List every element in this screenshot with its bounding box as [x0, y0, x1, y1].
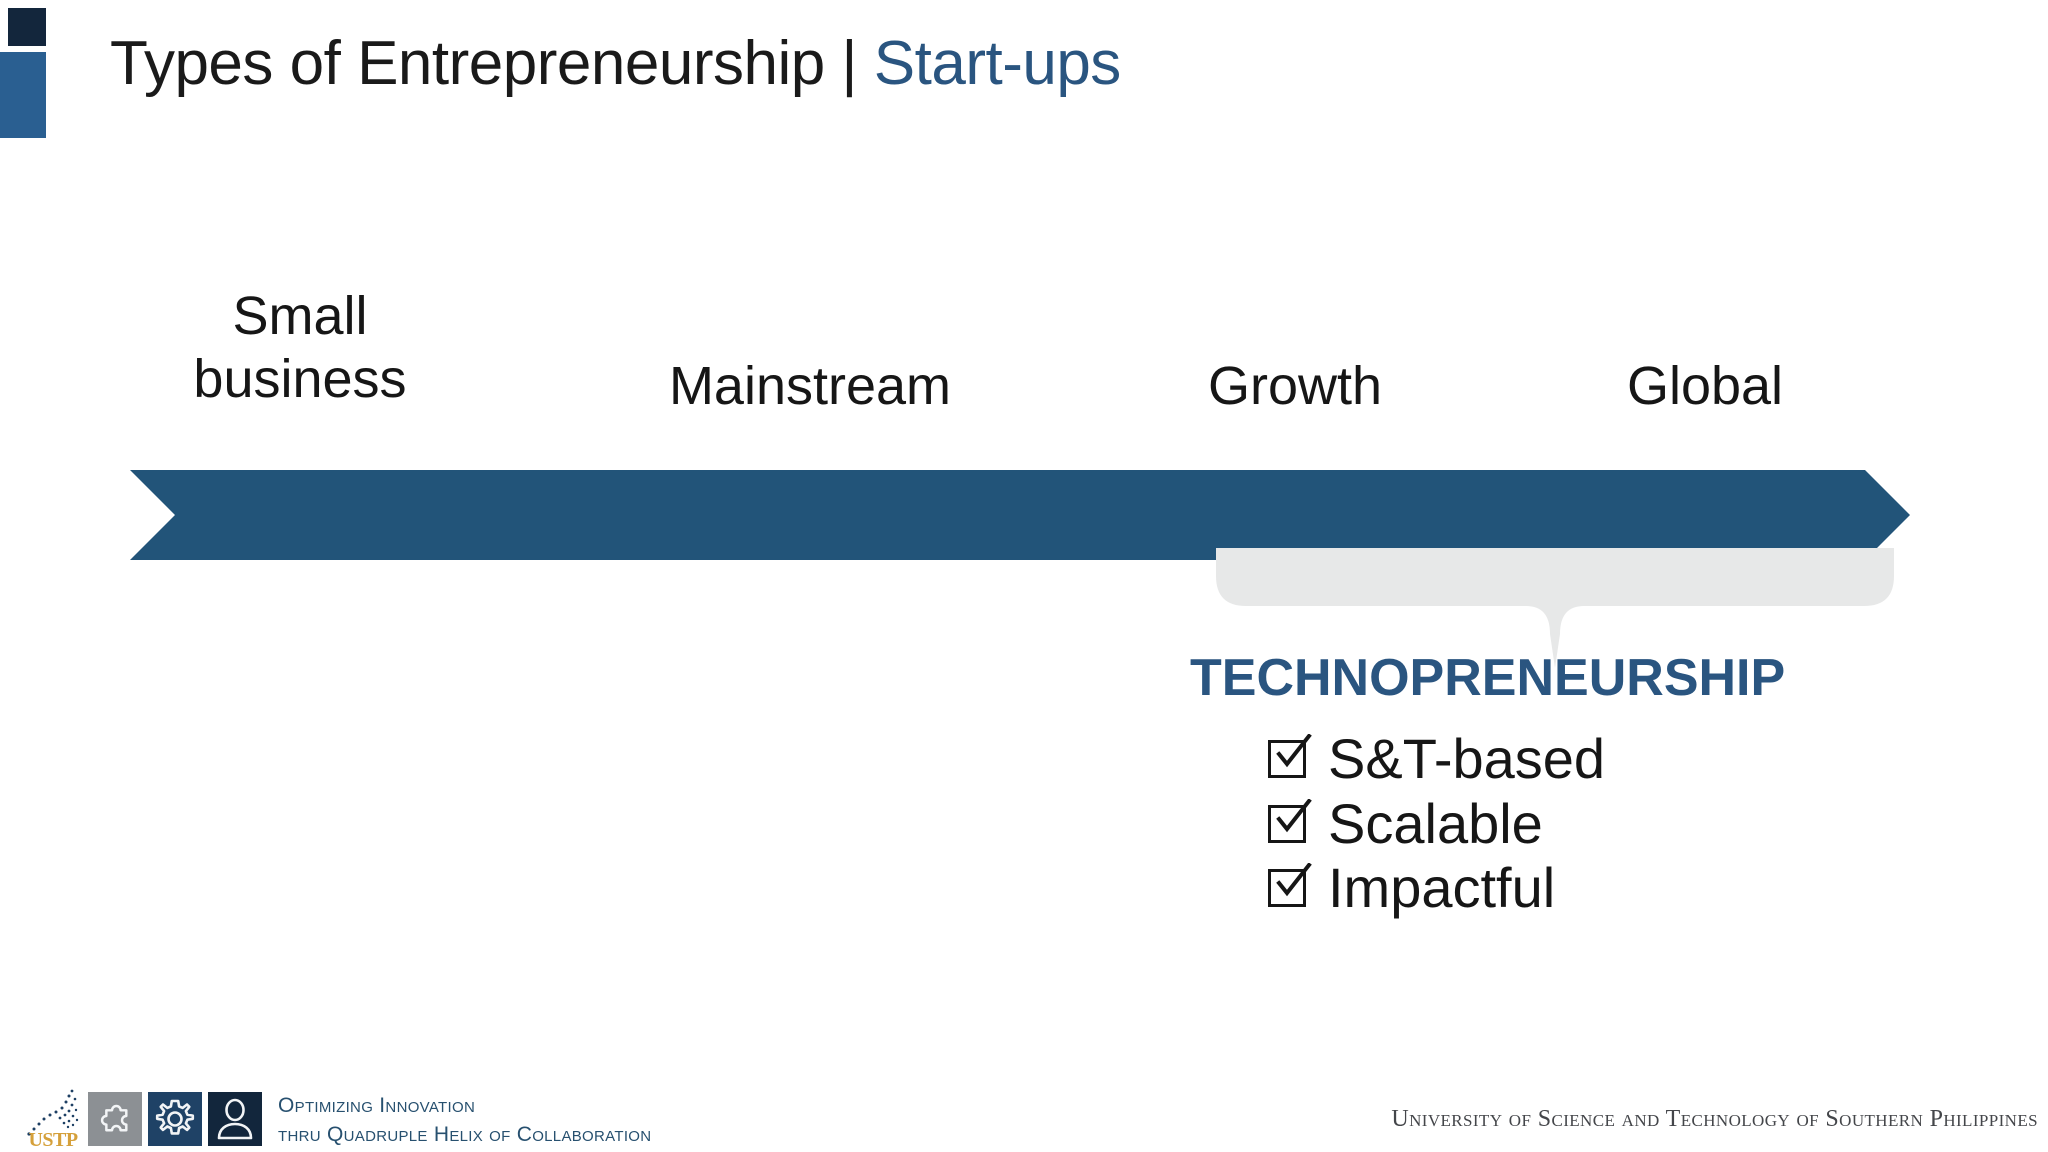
footer-tile-gear: [148, 1092, 202, 1146]
checklist-item-label: Scalable: [1328, 792, 1543, 855]
ustp-logo: USTP: [22, 1088, 84, 1150]
stage-label-global: Global: [1540, 355, 1870, 418]
checklist-item: Scalable: [1268, 793, 1908, 856]
gear-icon: [148, 1092, 202, 1146]
puzzle-piece-icon: [88, 1092, 142, 1146]
check-mark-icon: [1273, 734, 1313, 774]
svg-text:USTP: USTP: [28, 1129, 77, 1150]
ustp-logo-mark: USTP: [22, 1088, 84, 1150]
footer-tile-puzzle: [88, 1092, 142, 1146]
checklist-item-label: Impactful: [1328, 856, 1555, 919]
stage-label-small-business: Small business: [150, 285, 450, 410]
spectrum-arrow: [130, 470, 1910, 560]
person-icon: [208, 1092, 262, 1146]
university-name: University of Science and Technology of …: [1391, 1106, 2038, 1133]
page-title: Types of Entrepreneurship | Start-ups: [110, 28, 1121, 99]
stage-label-mainstream: Mainstream: [600, 355, 1020, 418]
footer-tile-person: [208, 1092, 262, 1146]
title-main-text: Types of Entrepreneurship: [110, 29, 825, 98]
slide-canvas: Types of Entrepreneurship | Start-ups Sm…: [0, 0, 2048, 1152]
checked-box-icon: [1268, 869, 1312, 913]
checked-box-icon: [1268, 805, 1312, 849]
title-separator: |: [825, 29, 874, 98]
title-accent-text: Start-ups: [874, 29, 1121, 98]
checklist-item-label: S&T-based: [1328, 727, 1605, 790]
checked-box-icon: [1268, 740, 1312, 784]
check-mark-icon: [1273, 863, 1313, 903]
callout-checklist: S&T-based Scalable Impactful: [1268, 728, 1908, 922]
spectrum-arrow-shape: [130, 470, 1910, 560]
slide-footer: USTP Optimiz: [0, 1086, 2048, 1152]
checklist-item: S&T-based: [1268, 728, 1908, 791]
tagline-line-1: Optimizing Innovation: [278, 1092, 651, 1121]
check-mark-icon: [1273, 799, 1313, 839]
title-decor-square: [8, 8, 46, 46]
title-decor-bar: [0, 52, 46, 138]
checklist-item: Impactful: [1268, 857, 1908, 920]
footer-tagline: Optimizing Innovation thru Quadruple Hel…: [278, 1092, 651, 1150]
stage-label-growth: Growth: [1130, 355, 1460, 418]
callout-heading: TECHNOPRENEURSHIP: [1190, 648, 1785, 708]
tagline-line-2: thru Quadruple Helix of Collaboration: [278, 1121, 651, 1150]
